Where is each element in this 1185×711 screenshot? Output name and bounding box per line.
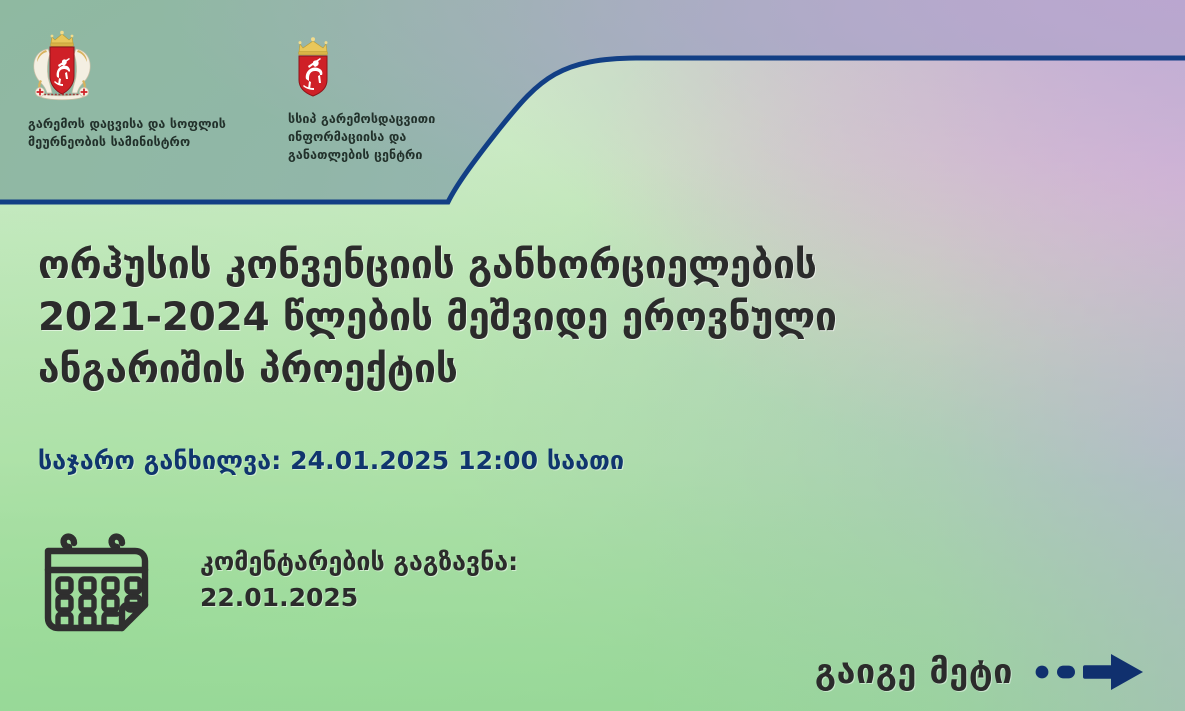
logos-row: გარემოს დაცვისა და სოფლის მეურნეობის სამ… [0,0,1185,202]
banner-root: გარემოს დაცვისა და სოფლის მეურნეობის სამ… [0,0,1185,711]
dotted-arrow-right-icon [1035,651,1147,693]
logo-information-center: სსიპ გარემოსდაცვითი ინფორმაციისა და განა… [288,35,503,163]
logo-ministry: გარემოს დაცვისა და სოფლის მეურნეობის სამ… [28,30,278,151]
logo-ministry-caption: გარემოს დაცვისა და სოფლის მეურნეობის სამ… [28,115,278,151]
main-content: ორჰუსის კონვენციის განხორციელების 2021-2… [0,202,1185,711]
comment-deadline-block: კომენტარების გაგზავნა: 22.01.2025 [34,527,518,637]
calendar-icon [34,527,162,637]
learn-more-cta[interactable]: გაიგე მეტი [815,651,1147,693]
learn-more-label: გაიგე მეტი [815,652,1013,692]
public-discussion-datetime: საჯარო განხილვა: 24.01.2025 12:00 საათი [38,445,918,478]
logo-information-center-caption: სსიპ გარემოსდაცვითი ინფორმაციისა და განა… [288,110,503,163]
georgia-state-coat-of-arms-icon [28,30,278,108]
page-title: ორჰუსის კონვენციის განხორციელების 2021-2… [38,240,1018,396]
environmental-information-center-emblem-icon [288,35,503,101]
comment-deadline-text: კომენტარების გაგზავნა: 22.01.2025 [200,544,518,620]
